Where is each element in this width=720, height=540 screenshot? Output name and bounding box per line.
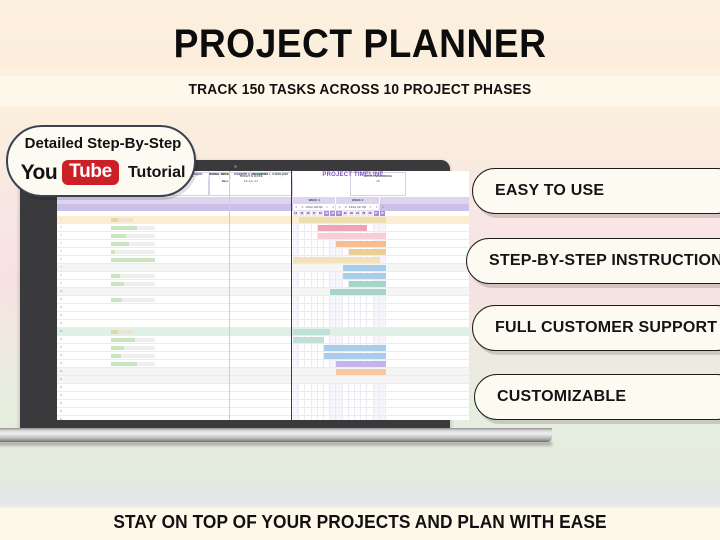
column-separator	[291, 171, 292, 420]
task-duration: 15	[209, 171, 220, 179]
gantt-bar	[336, 369, 386, 374]
row-number: 8	[57, 272, 65, 280]
gantt-bar	[299, 217, 386, 222]
laptop-mockup: DURATION29TODAY'S DATE18-Apr-24DAYS REMA…	[0, 160, 462, 450]
phase-progress-bar	[111, 330, 133, 335]
empty-row[interactable]	[57, 304, 469, 312]
row-number: 23	[57, 392, 65, 400]
row-number: 21	[57, 376, 65, 384]
feature-label: FULL CUSTOMER SUPPORT	[473, 319, 717, 337]
gantt-bar	[349, 249, 386, 254]
task-progress-bar	[111, 274, 155, 279]
row-number: 19	[57, 360, 65, 368]
task-progress-bar	[111, 338, 155, 343]
feature-badge-customizable[interactable]: CUSTOMIZABLE	[474, 374, 720, 420]
timeline-dow: S	[380, 206, 386, 210]
row-number: 22	[57, 384, 65, 392]
feature-badge-easy-to-use[interactable]: EASY TO USE	[472, 168, 720, 214]
row-number: 13	[57, 312, 65, 320]
gantt-bar	[330, 289, 386, 294]
gantt-bar	[324, 353, 386, 358]
empty-row[interactable]	[57, 320, 469, 328]
gantt-bar	[318, 233, 386, 238]
row-number: 7	[57, 264, 65, 272]
row-number: 9	[57, 280, 65, 288]
youtube-badge-line1: Detailed Step-By-Step	[8, 135, 198, 152]
youtube-logo: You Tube Tutorial	[8, 160, 198, 185]
task-progress-bar	[111, 282, 155, 287]
row-number: 5	[57, 248, 65, 256]
row-number: 1	[57, 216, 65, 224]
group-header-row	[57, 197, 469, 204]
feature-badge-step-by-step-instructions[interactable]: STEP-BY-STEP INSTRUCTIONS	[466, 238, 720, 284]
row-number: 14	[57, 320, 65, 328]
row-number: 12	[57, 304, 65, 312]
task-progress-bar	[111, 298, 155, 303]
row-number: 24	[57, 400, 65, 408]
task-progress-bar	[111, 346, 155, 351]
task-progress-bar	[111, 354, 155, 359]
gantt-bar	[336, 241, 386, 246]
timeline-title: PROJECT TIMELINE	[293, 172, 413, 178]
task-row[interactable]	[57, 376, 469, 384]
row-number: 10	[57, 288, 65, 296]
laptop-screen: DURATION29TODAY'S DATE18-Apr-24DAYS REMA…	[57, 171, 469, 420]
row-number: 6	[57, 256, 65, 264]
gantt-bar	[336, 361, 386, 366]
laptop-bezel: DURATION29TODAY'S DATE18-Apr-24DAYS REMA…	[20, 160, 450, 430]
feature-label: STEP-BY-STEP INSTRUCTIONS	[467, 252, 720, 270]
column-separator	[229, 171, 230, 420]
row-number: 11	[57, 296, 65, 304]
task-priority: Medium	[231, 171, 251, 179]
row-number: 18	[57, 352, 65, 360]
empty-row[interactable]	[57, 416, 469, 420]
laptop-shadow	[0, 441, 552, 446]
row-number: 16	[57, 336, 65, 344]
row-number: 25	[57, 408, 65, 416]
empty-row[interactable]	[57, 400, 469, 408]
footer-tagline: STAY ON TOP OF YOUR PROJECTS AND PLAN WI…	[14, 512, 705, 533]
row-number: 15	[57, 328, 65, 336]
page-title: PROJECT PLANNER	[25, 22, 695, 67]
empty-row[interactable]	[57, 384, 469, 392]
gantt-bar	[343, 273, 386, 278]
timeline-week-header: WEEK 1	[293, 197, 336, 204]
task-progress-bar	[111, 258, 155, 263]
gantt-bar	[293, 329, 330, 334]
feature-label: CUSTOMIZABLE	[475, 388, 626, 406]
row-number: 20	[57, 368, 65, 376]
youtube-tutorial-text: Tutorial	[128, 164, 185, 182]
task-progress-bar	[111, 226, 155, 231]
row-number: 26	[57, 416, 65, 420]
gantt-bar	[324, 345, 386, 350]
row-number: 3	[57, 232, 65, 240]
row-number: 2	[57, 224, 65, 232]
gantt-bar	[343, 265, 386, 270]
gantt-bar	[293, 257, 380, 262]
row-number: 17	[57, 344, 65, 352]
task-progress-bar	[111, 250, 155, 255]
webcam-icon	[234, 165, 237, 168]
empty-row[interactable]	[57, 392, 469, 400]
feature-label: EASY TO USE	[473, 182, 604, 200]
gantt-bar	[318, 225, 368, 230]
laptop-base	[0, 428, 552, 442]
task-progress-bar	[111, 362, 155, 367]
gantt-bar	[349, 281, 386, 286]
youtube-you-text: You	[21, 161, 58, 185]
empty-row[interactable]	[57, 312, 469, 320]
phase-progress-bar	[111, 218, 133, 223]
feature-badge-full-customer-support[interactable]: FULL CUSTOMER SUPPORT	[472, 305, 720, 351]
summary-value: 28	[351, 179, 405, 183]
spreadsheet[interactable]: DURATION29TODAY'S DATE18-Apr-24DAYS REMA…	[57, 171, 469, 420]
column-header-row	[57, 204, 469, 211]
row-number: 4	[57, 240, 65, 248]
task-status: Pending	[271, 171, 293, 179]
task-row[interactable]	[57, 288, 469, 296]
youtube-tutorial-badge[interactable]: Detailed Step-By-Step You Tube Tutorial	[6, 125, 196, 197]
youtube-tube-text: Tube	[62, 160, 119, 185]
timeline-week-header: WEEK 2	[336, 197, 379, 204]
page-subtitle: TRACK 150 TASKS ACROSS 10 PROJECT PHASES	[18, 82, 702, 98]
page-header: PROJECT PLANNER TRACK 150 TASKS ACROSS 1…	[0, 0, 720, 108]
empty-row[interactable]	[57, 408, 469, 416]
gantt-bar	[293, 337, 324, 342]
task-row[interactable]	[57, 264, 469, 272]
task-progress-bar	[111, 234, 155, 239]
task-row[interactable]	[57, 368, 469, 376]
task-progress-bar	[111, 242, 155, 247]
task-individual: Person 1	[251, 171, 271, 179]
